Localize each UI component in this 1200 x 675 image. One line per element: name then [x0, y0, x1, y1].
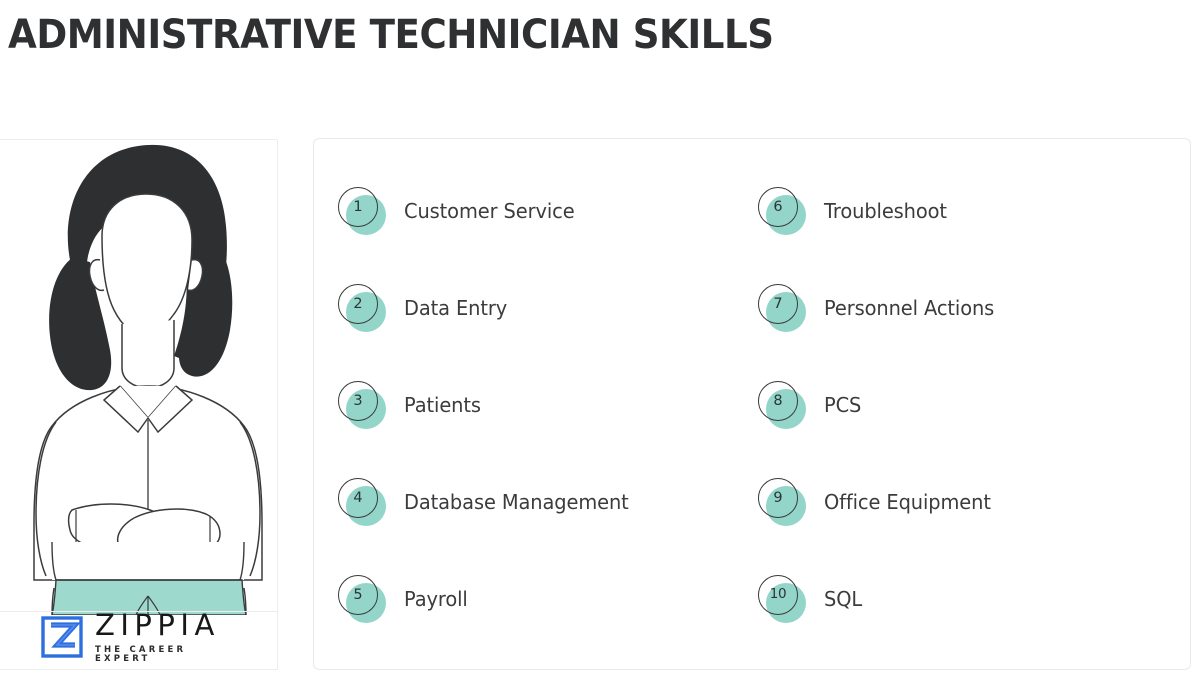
- badge-number: 6: [773, 200, 782, 215]
- skills-panel: 1 Customer Service 2 Data Entry: [313, 138, 1191, 670]
- badge-ring: 7: [758, 284, 798, 324]
- badge-ring: 9: [758, 478, 798, 518]
- skill-badge-7: 7: [758, 284, 806, 332]
- badge-number: 7: [773, 297, 782, 312]
- skill-item-3: 3 Patients: [338, 377, 483, 433]
- skill-item-2: 2 Data Entry: [338, 280, 510, 336]
- skill-item-7: 7 Personnel Actions: [758, 280, 999, 336]
- skill-badge-1: 1: [338, 187, 386, 235]
- skill-label: Troubleshoot: [824, 199, 947, 223]
- skill-badge-6: 6: [758, 187, 806, 235]
- badge-number: 10: [770, 588, 787, 602]
- badge-number: 8: [773, 394, 782, 409]
- skill-label: Database Management: [404, 490, 629, 514]
- skill-label: PCS: [824, 393, 861, 417]
- badge-number: 2: [353, 297, 362, 312]
- badge-ring: 10: [758, 575, 798, 615]
- illustration-panel: [0, 139, 278, 670]
- skill-item-4: 4 Database Management: [338, 474, 636, 530]
- skill-item-8: 8 PCS: [758, 377, 862, 433]
- badge-ring: 5: [338, 575, 378, 615]
- illustration-woman-crossed-arms-icon: [0, 110, 280, 615]
- skill-label: Data Entry: [404, 296, 507, 320]
- badge-ring: 6: [758, 187, 798, 227]
- badge-ring: 8: [758, 381, 798, 421]
- skill-badge-4: 4: [338, 478, 386, 526]
- badge-number: 4: [353, 491, 362, 506]
- infographic-page: ADMINISTRATIVE TECHNICIAN SKILLS: [0, 0, 1200, 675]
- zippia-z-mark-icon: [40, 615, 84, 659]
- skill-label: Customer Service: [404, 199, 575, 223]
- skill-label: SQL: [824, 587, 862, 611]
- zippia-logo[interactable]: ZIPPIA THE CAREER EXPERT: [40, 612, 245, 662]
- skill-label: Patients: [404, 393, 481, 417]
- skill-badge-3: 3: [338, 381, 386, 429]
- skill-badge-2: 2: [338, 284, 386, 332]
- page-title: ADMINISTRATIVE TECHNICIAN SKILLS: [8, 12, 774, 58]
- badge-number: 1: [353, 200, 362, 215]
- skill-item-6: 6 Troubleshoot: [758, 183, 951, 239]
- skill-item-1: 1 Customer Service: [338, 183, 580, 239]
- skills-columns: 1 Customer Service 2 Data Entry: [314, 139, 1190, 669]
- zippia-tagline: THE CAREER EXPERT: [95, 646, 245, 663]
- badge-number: 5: [353, 588, 362, 603]
- skill-label: Office Equipment: [824, 490, 991, 514]
- skill-badge-8: 8: [758, 381, 806, 429]
- skills-column-right: 6 Troubleshoot 7 Personnel Actions: [758, 139, 1178, 669]
- badge-number: 3: [353, 394, 362, 409]
- skill-label: Payroll: [404, 587, 468, 611]
- badge-ring: 1: [338, 187, 378, 227]
- skill-item-10: 10 SQL: [758, 571, 863, 627]
- zippia-wordmark: ZIPPIA: [95, 611, 245, 640]
- skill-item-9: 9 Office Equipment: [758, 474, 996, 530]
- badge-ring: 3: [338, 381, 378, 421]
- skill-badge-9: 9: [758, 478, 806, 526]
- skills-column-left: 1 Customer Service 2 Data Entry: [338, 139, 758, 669]
- badge-number: 9: [773, 491, 782, 506]
- badge-ring: 4: [338, 478, 378, 518]
- skill-item-5: 5 Payroll: [338, 571, 470, 627]
- skill-label: Personnel Actions: [824, 296, 994, 320]
- skill-badge-10: 10: [758, 575, 806, 623]
- badge-ring: 2: [338, 284, 378, 324]
- skill-badge-5: 5: [338, 575, 386, 623]
